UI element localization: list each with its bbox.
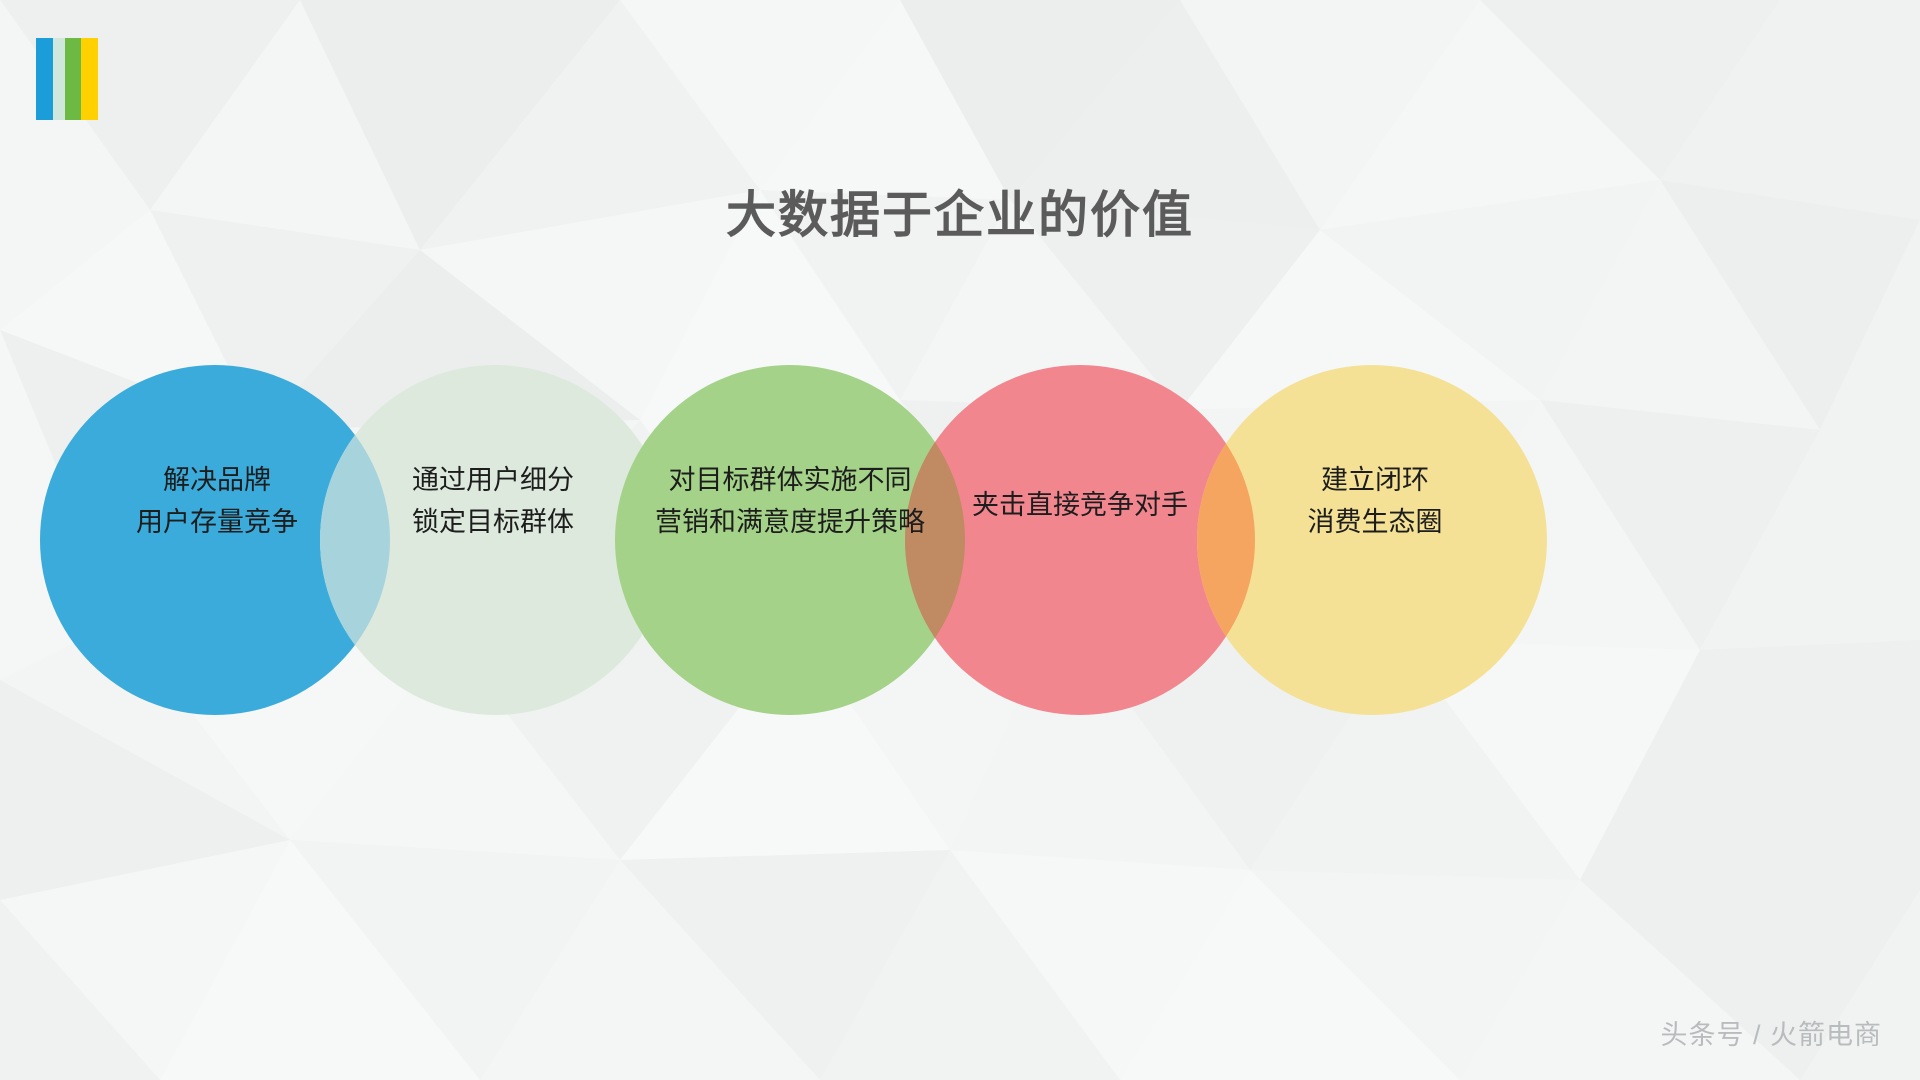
venn-circles-svg <box>0 330 1920 750</box>
logo-bar-mint <box>53 38 65 120</box>
watermark: 头条号 / 火箭电商 <box>1660 1013 1882 1052</box>
logo-bar-yellow <box>81 38 98 120</box>
logo-bar-green <box>65 38 81 120</box>
brand-logo <box>36 38 98 120</box>
logo-bar-blue <box>36 38 53 120</box>
slide-title: 大数据于企业的价值 <box>0 184 1920 247</box>
slide-canvas: 大数据于企业的价值 <box>0 0 1920 1080</box>
venn-diagram: 解决品牌 用户存量竞争 通过用户细分 锁定目标群体 对目标群体实施不同 营销和满… <box>0 330 1920 750</box>
